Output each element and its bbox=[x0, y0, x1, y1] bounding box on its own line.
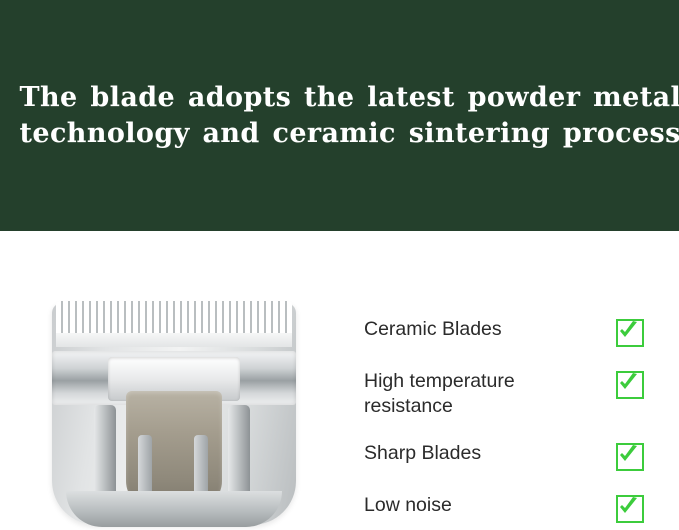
blade-base-skirt bbox=[66, 491, 282, 527]
blade-clip-right bbox=[194, 435, 208, 495]
check-icon bbox=[616, 319, 644, 347]
feature-label: High temperature resistance bbox=[364, 369, 576, 419]
blade-clip-left bbox=[138, 435, 152, 495]
product-image bbox=[22, 285, 322, 530]
header-banner: The blade adopts the latest powder metal… bbox=[0, 0, 679, 231]
feature-item-low-noise: Low noise bbox=[364, 493, 644, 523]
blade-comb-teeth bbox=[56, 301, 292, 347]
feature-item-ceramic-blades: Ceramic Blades bbox=[364, 317, 644, 347]
check-icon bbox=[616, 371, 644, 399]
feature-label: Low noise bbox=[364, 493, 452, 518]
content-area: Ceramic Blades High temperature resistan… bbox=[0, 231, 679, 530]
feature-item-sharp-blades: Sharp Blades bbox=[364, 441, 644, 471]
check-icon bbox=[616, 443, 644, 471]
check-icon bbox=[616, 495, 644, 523]
feature-label: Ceramic Blades bbox=[364, 317, 502, 342]
feature-list: Ceramic Blades High temperature resistan… bbox=[364, 317, 644, 523]
banner-text-block: The blade adopts the latest powder metal… bbox=[20, 80, 660, 151]
feature-label: Sharp Blades bbox=[364, 441, 481, 466]
product-feature-page: The blade adopts the latest powder metal… bbox=[0, 0, 679, 530]
banner-headline-line-1: The blade adopts the latest powder metal… bbox=[20, 80, 660, 116]
banner-headline-line-2: technology and ceramic sintering process bbox=[20, 116, 660, 152]
feature-item-high-temperature-resistance: High temperature resistance bbox=[364, 369, 644, 419]
